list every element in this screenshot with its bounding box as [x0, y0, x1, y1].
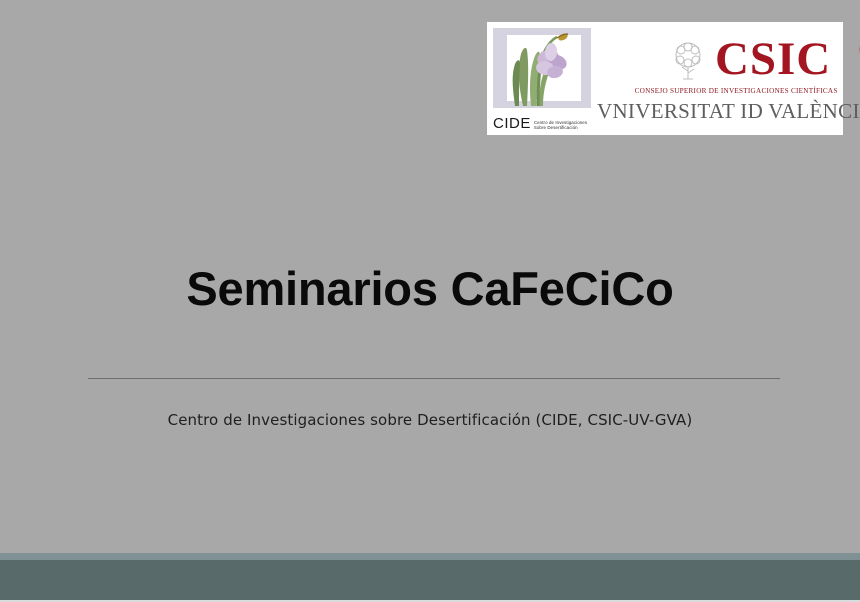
- cide-subtitle-line2: Sobre Desertificación: [534, 125, 578, 130]
- csic-uv-logo: CSIC CONSEJO SUPERIOR DE INVESTIGACIONES…: [595, 22, 860, 135]
- footer-accent-bar: [0, 553, 860, 560]
- universitat-valencia-crest-icon: [853, 28, 860, 128]
- cide-logo: CIDE Centro de Investigaciones Sobre Des…: [487, 22, 595, 135]
- cide-subtitle: Centro de Investigaciones Sobre Desertif…: [534, 120, 587, 131]
- csic-wordmark: CSIC: [715, 36, 831, 83]
- slide-title: Seminarios CaFeCiCo: [0, 262, 860, 316]
- university-wordmark: VNIVERSITAT ID VALÈNCIA: [597, 99, 860, 124]
- csic-tagline: CONSEJO SUPERIOR DE INVESTIGACIONES CIEN…: [597, 87, 860, 95]
- cide-flower-icon: [493, 28, 591, 108]
- institution-logo-group: CIDE Centro de Investigaciones Sobre Des…: [487, 22, 843, 135]
- csic-tree-icon: [667, 39, 709, 81]
- presentation-slide: CIDE Centro de Investigaciones Sobre Des…: [0, 0, 860, 602]
- slide-subtitle: Centro de Investigaciones sobre Desertif…: [0, 409, 860, 431]
- title-divider: [88, 378, 780, 379]
- cide-letters: CIDE: [493, 116, 531, 131]
- footer-bar: [0, 560, 860, 600]
